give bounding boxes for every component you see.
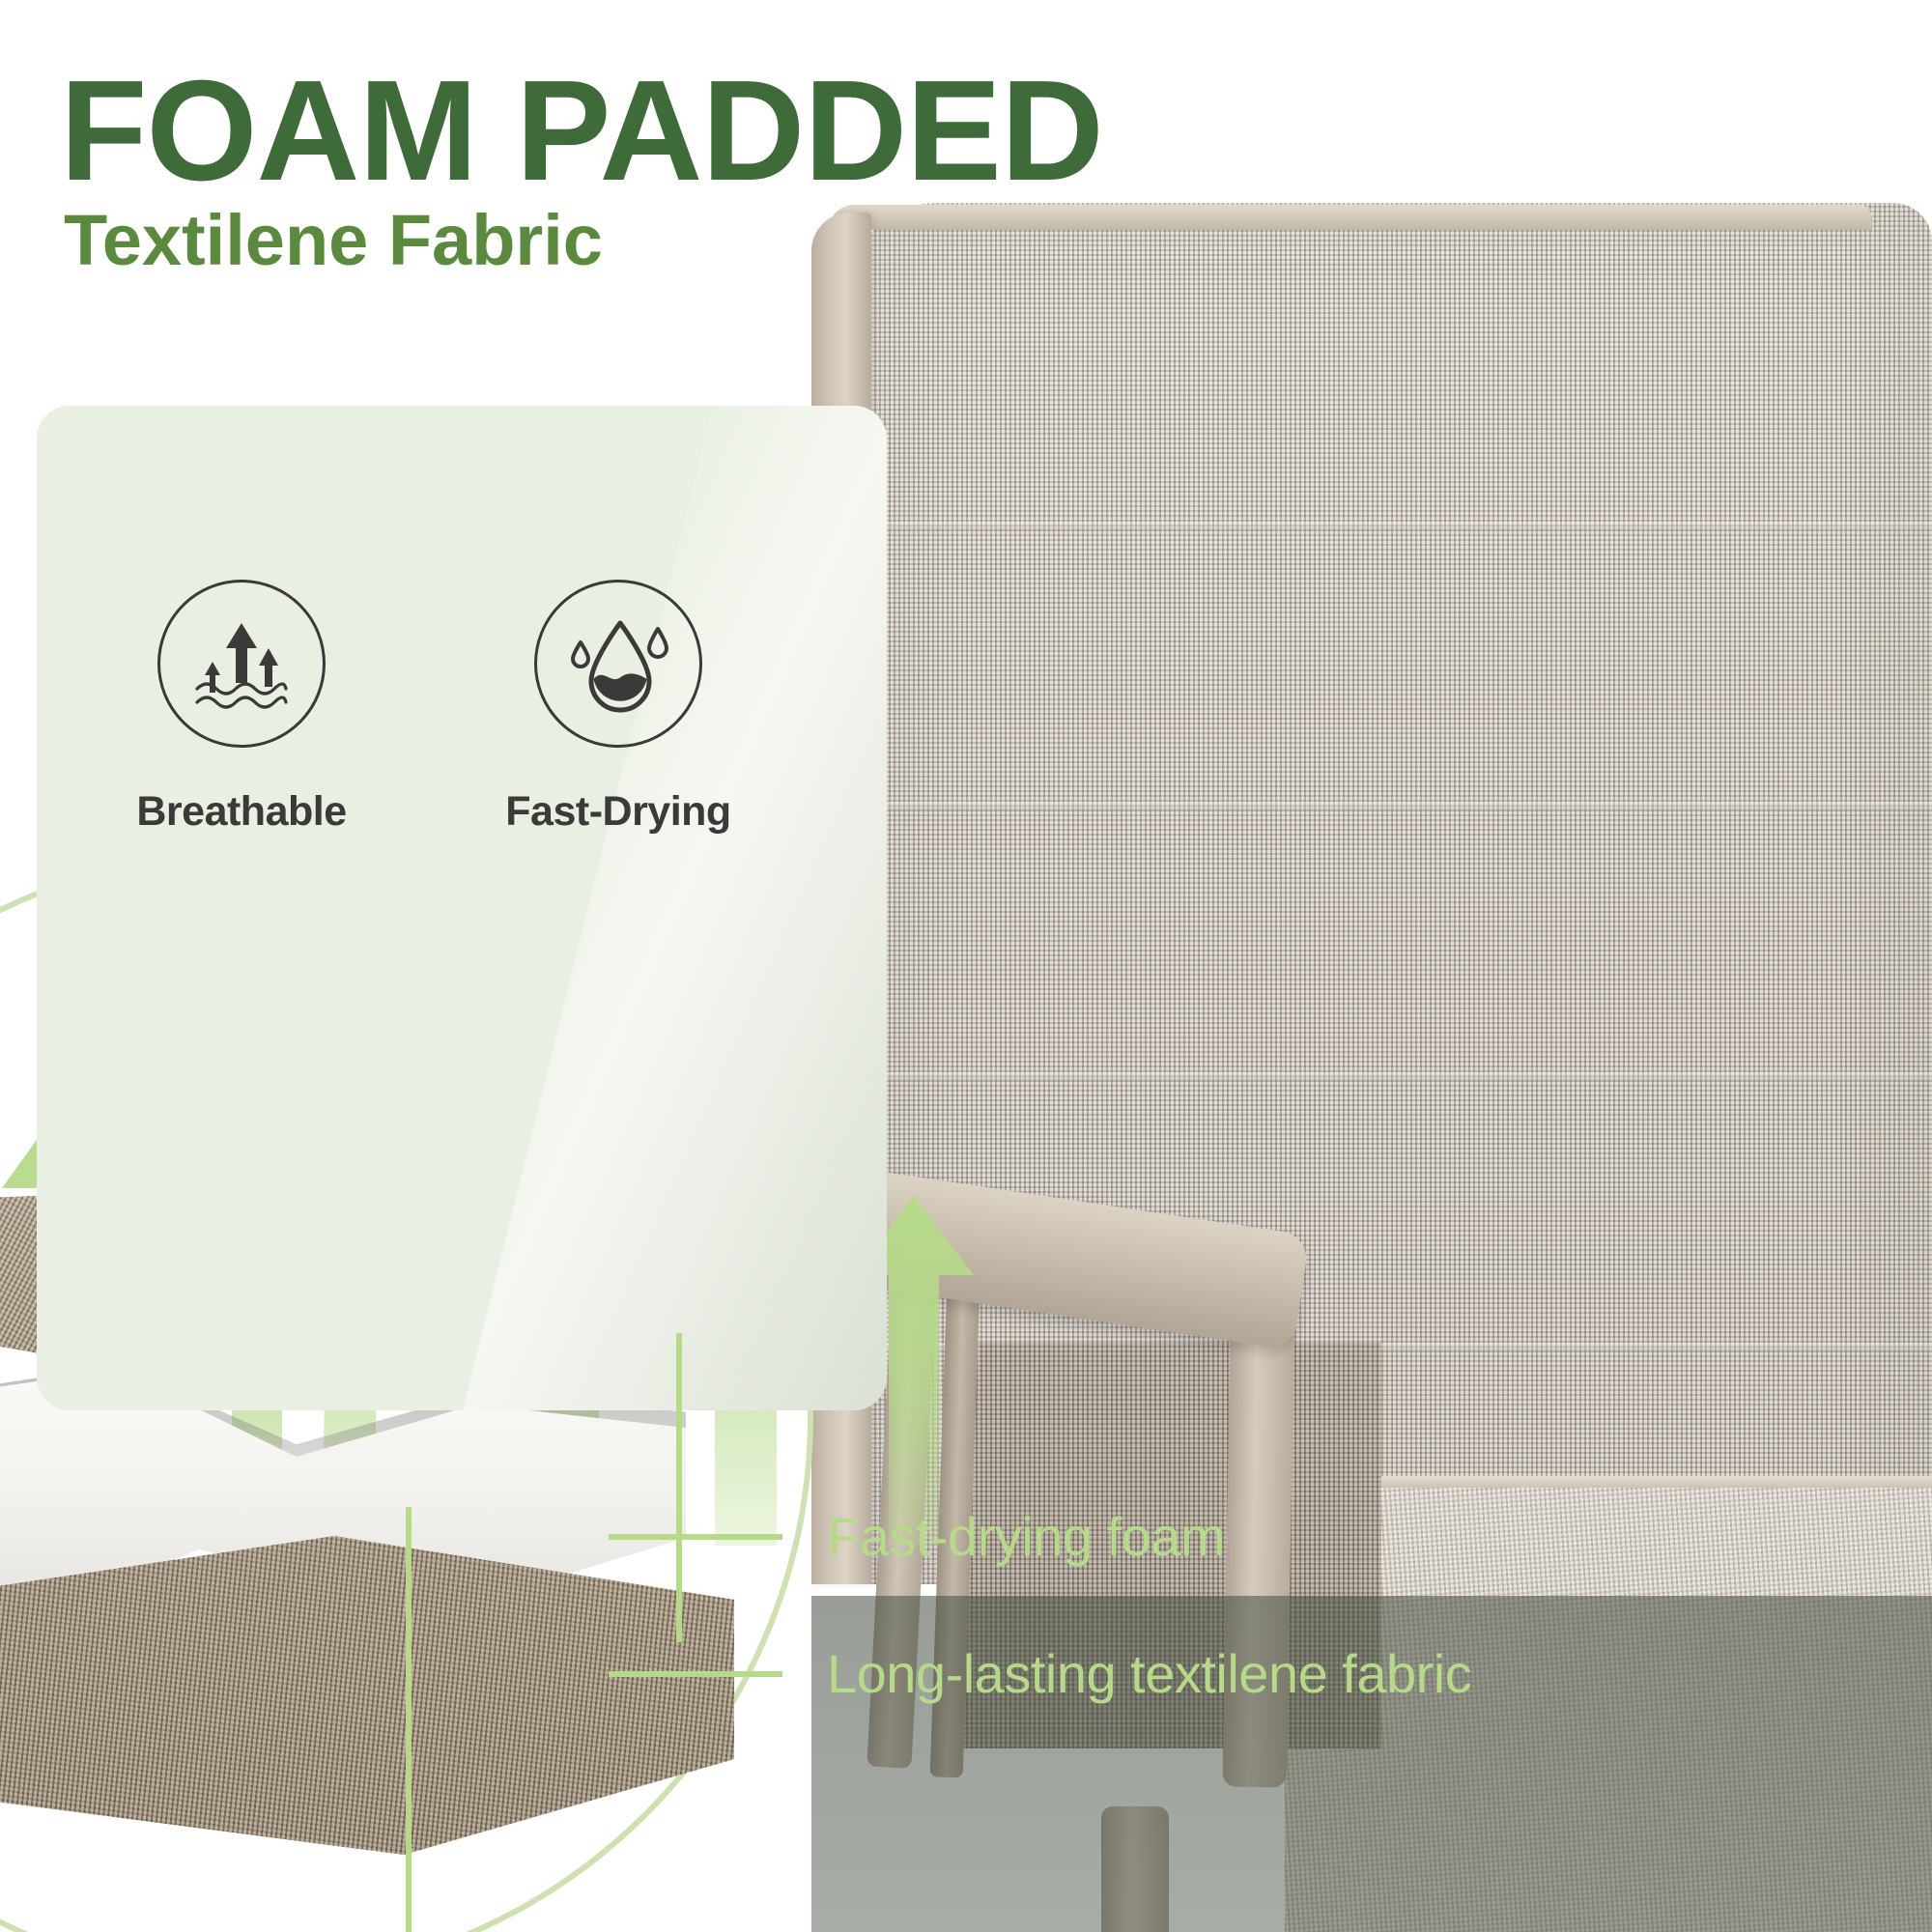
callout-fast-drying-foam-label: Fast-drying foam bbox=[827, 1505, 1225, 1568]
callout-leader-line-vertical bbox=[676, 1333, 682, 1642]
fast-drying-icon-badge bbox=[534, 580, 702, 748]
fast-drying-icon bbox=[560, 606, 676, 722]
feature-panel bbox=[37, 406, 887, 1410]
callout-long-lasting-textilene-fabric: Long-lasting textilene fabric bbox=[609, 1642, 1471, 1705]
chair-seat-cushion bbox=[1285, 1488, 1932, 1932]
chair-front-leg-post bbox=[1222, 1284, 1294, 1787]
page-title: FOAM PADDED bbox=[60, 60, 1103, 203]
feature-fast-drying: Fast-Drying bbox=[502, 580, 734, 836]
backrest-seam bbox=[850, 802, 1932, 811]
feature-fast-drying-label: Fast-Drying bbox=[502, 788, 734, 836]
callout-fast-drying-foam: Fast-drying foam bbox=[609, 1505, 1225, 1568]
breathable-icon bbox=[184, 606, 299, 722]
feature-list: Breathable Fast-Drying bbox=[126, 580, 734, 836]
chair-lower-leg bbox=[1101, 1806, 1169, 1932]
page-subtitle: Textilene Fabric bbox=[64, 205, 603, 276]
callout-leader-line bbox=[609, 1671, 782, 1677]
callout-leader-line bbox=[609, 1534, 782, 1540]
backrest-seam bbox=[850, 522, 1932, 531]
callout-leader-line-vertical bbox=[406, 1507, 412, 1932]
infographic-canvas: FOAM PADDED Textilene Fabric Breathab bbox=[0, 0, 1932, 1932]
callout-long-lasting-textilene-fabric-label: Long-lasting textilene fabric bbox=[827, 1642, 1471, 1705]
feature-breathable: Breathable bbox=[126, 580, 357, 836]
breathable-icon-badge bbox=[157, 580, 326, 748]
backrest-seam bbox=[850, 1072, 1932, 1082]
feature-breathable-label: Breathable bbox=[126, 788, 357, 836]
